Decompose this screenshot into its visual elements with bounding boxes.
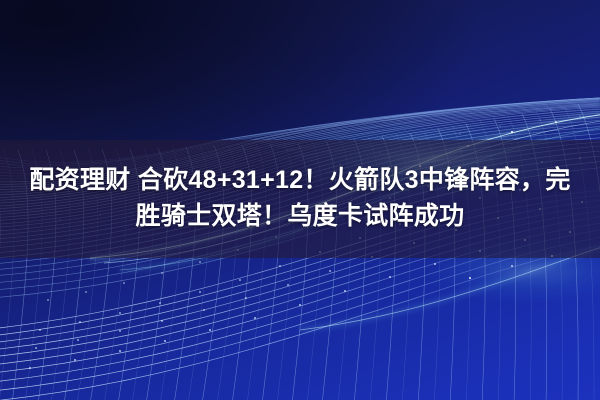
page-title: 配资理财 合砍48+31+12！火箭队3中锋阵容，完胜骑士双塔！乌度卡试阵成功 <box>0 162 600 234</box>
banner-canvas: 配资理财 合砍48+31+12！火箭队3中锋阵容，完胜骑士双塔！乌度卡试阵成功 <box>0 0 600 400</box>
